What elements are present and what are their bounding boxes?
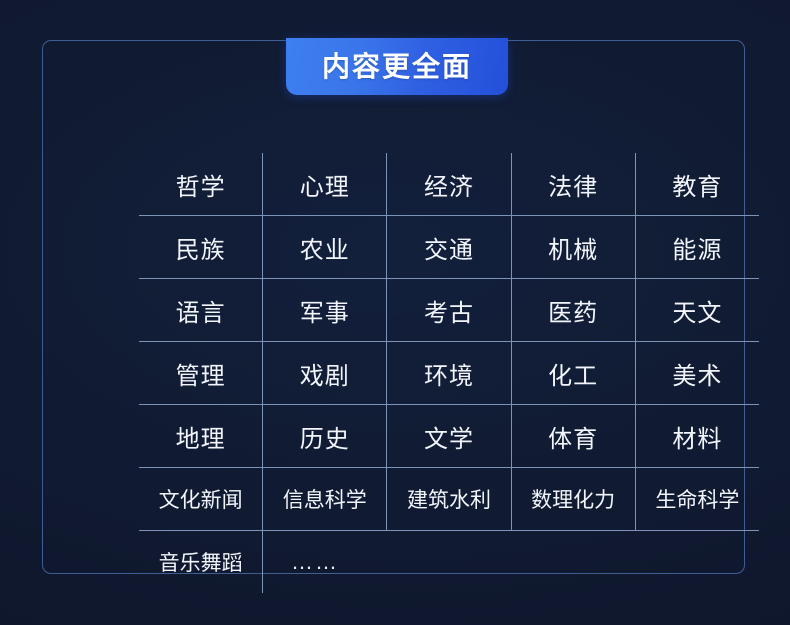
table-cell: 戏剧 [263, 342, 387, 405]
table-cell: 农业 [263, 216, 387, 279]
table-cell: 环境 [387, 342, 511, 405]
table-row: 语言 军事 考古 医药 天文 [139, 279, 759, 342]
table-cell: 音乐舞蹈 [139, 531, 263, 594]
table-row: 地理 历史 文学 体育 材料 [139, 405, 759, 468]
table-cell: 医药 [511, 279, 635, 342]
section-title-badge: 内容更全面 [286, 38, 508, 95]
table-cell: 语言 [139, 279, 263, 342]
table-cell: 生命科学 [635, 468, 759, 531]
table-cell: 哲学 [139, 153, 263, 216]
table-cell: 心理 [263, 153, 387, 216]
table-cell-empty [387, 531, 511, 594]
table-cell: 军事 [263, 279, 387, 342]
table-cell: 数理化力 [511, 468, 635, 531]
table-cell: 美术 [635, 342, 759, 405]
subject-category-table: 哲学 心理 经济 法律 教育 民族 农业 交通 机械 能源 语言 军事 考古 [139, 153, 759, 593]
table-row: 文化新闻 信息科学 建筑水利 数理化力 生命科学 [139, 468, 759, 531]
table-cell: 能源 [635, 216, 759, 279]
ellipsis-text: …… [291, 549, 339, 575]
table-row: 哲学 心理 经济 法律 教育 [139, 153, 759, 216]
table-cell: 法律 [511, 153, 635, 216]
content-panel: 哲学 心理 经济 法律 教育 民族 农业 交通 机械 能源 语言 军事 考古 [42, 40, 745, 574]
table-cell: 建筑水利 [387, 468, 511, 531]
table-cell-empty [511, 531, 635, 594]
table-cell: 材料 [635, 405, 759, 468]
table-cell: 化工 [511, 342, 635, 405]
table-cell: 体育 [511, 405, 635, 468]
table-cell: 文化新闻 [139, 468, 263, 531]
table-cell: 天文 [635, 279, 759, 342]
table-cell: 教育 [635, 153, 759, 216]
table-cell: 信息科学 [263, 468, 387, 531]
page-background: 哲学 心理 经济 法律 教育 民族 农业 交通 机械 能源 语言 军事 考古 [0, 0, 790, 625]
table-cell: 考古 [387, 279, 511, 342]
table-cell: 地理 [139, 405, 263, 468]
table-cell: 文学 [387, 405, 511, 468]
table-row: 音乐舞蹈 …… [139, 531, 759, 594]
section-title-text: 内容更全面 [322, 53, 472, 81]
table-cell-ellipsis: …… [263, 531, 387, 594]
table-row: 民族 农业 交通 机械 能源 [139, 216, 759, 279]
table-cell: 机械 [511, 216, 635, 279]
table-cell: 管理 [139, 342, 263, 405]
table-cell: 历史 [263, 405, 387, 468]
table-row: 管理 戏剧 环境 化工 美术 [139, 342, 759, 405]
table-cell: 交通 [387, 216, 511, 279]
table-cell-empty [635, 531, 759, 594]
table-cell: 经济 [387, 153, 511, 216]
table-cell: 民族 [139, 216, 263, 279]
